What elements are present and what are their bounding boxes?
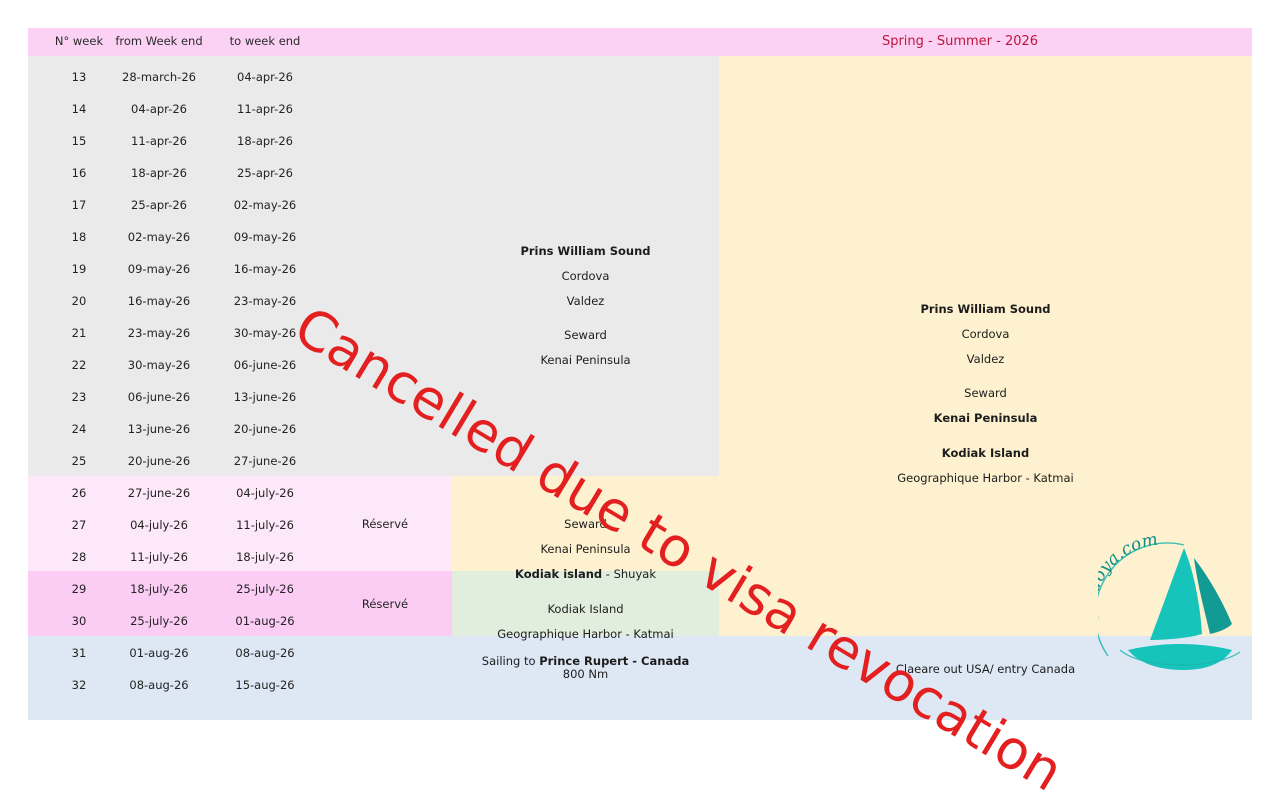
cell-week-start: 13-june-26: [104, 422, 214, 436]
spacer: [852, 425, 1119, 434]
cell-week-end: 20-june-26: [215, 422, 315, 436]
table-row[interactable]: 1802-may-2609-may-26: [28, 220, 452, 252]
table-row[interactable]: 2811-july-2618-july-26: [28, 540, 452, 572]
cell-week-end: 01-aug-26: [215, 614, 315, 628]
clearance-note: Claeare out USA/ entry Canada: [852, 662, 1119, 676]
cell-week-start: 25-apr-26: [104, 198, 214, 212]
cell-week-end: 13-june-26: [215, 390, 315, 404]
destination-green-block: Kodiak Island Geographique Harbor - Katm…: [452, 590, 719, 640]
cell-week-start: 01-aug-26: [104, 646, 214, 660]
sailing-destination: Prince Rupert - Canada: [539, 654, 689, 668]
dest-cream-line3-rest: - Shuyak: [602, 567, 656, 581]
dest-right-line1: Prins William Sound: [920, 302, 1050, 316]
dest-green-line2: Geographique Harbor - Katmai: [497, 627, 674, 641]
cell-week-start: 20-june-26: [104, 454, 214, 468]
cell-week-end: 09-may-26: [215, 230, 315, 244]
cell-week-start: 18-apr-26: [104, 166, 214, 180]
dest-right-line2: Cordova: [962, 327, 1010, 341]
table-row[interactable]: 2230-may-2606-june-26: [28, 348, 452, 380]
cell-week-end: 18-july-26: [215, 550, 315, 564]
reserved-label-1: Réservé: [330, 517, 440, 531]
cell-week-start: 09-may-26: [104, 262, 214, 276]
cell-week-end: 04-july-26: [215, 486, 315, 500]
cell-week-end: 25-july-26: [215, 582, 315, 596]
cell-week-start: 02-may-26: [104, 230, 214, 244]
sailing-prefix: Sailing to: [482, 654, 539, 668]
cell-week-end: 02-may-26: [215, 198, 315, 212]
front-sail-icon: [1150, 548, 1202, 640]
dest-grey-line1: Prins William Sound: [520, 244, 650, 258]
dest-grey-line3: Valdez: [567, 294, 605, 308]
reserved-label-2: Réservé: [330, 597, 440, 611]
table-row[interactable]: 2627-june-2604-july-26: [28, 476, 452, 508]
cell-week-end: 25-apr-26: [215, 166, 315, 180]
table-row[interactable]: 2016-may-2623-may-26: [28, 284, 452, 316]
cell-week-end: 11-july-26: [215, 518, 315, 532]
cell-week-end: 11-apr-26: [215, 102, 315, 116]
cell-week-end: 23-may-26: [215, 294, 315, 308]
cell-week-start: 23-may-26: [104, 326, 214, 340]
cell-week-start: 30-may-26: [104, 358, 214, 372]
table-row[interactable]: 3208-aug-2615-aug-26: [28, 668, 452, 700]
sailing-distance: 800 Nm: [563, 667, 608, 681]
cell-week-end: 15-aug-26: [215, 678, 315, 692]
table-row[interactable]: 3101-aug-2608-aug-26: [28, 636, 452, 668]
dest-right-line6: Kodiak Island: [942, 446, 1029, 460]
dest-cream-line3-bold: Kodiak island: [515, 567, 602, 581]
table-row[interactable]: 2306-june-2613-june-26: [28, 380, 452, 412]
schedule-sheet: N° week from Week end to week end Spring…: [0, 0, 1280, 720]
dest-cream-line2: Kenai Peninsula: [540, 542, 630, 556]
destination-cream-block: Seward Kenai Peninsula Kodiak island - S…: [452, 505, 719, 581]
cell-week-end: 04-apr-26: [215, 70, 315, 84]
spacer: [452, 308, 719, 317]
column-header-from: from Week end: [104, 34, 214, 48]
dest-right-line5: Kenai Peninsula: [934, 411, 1038, 425]
cell-week-start: 28-march-26: [104, 70, 214, 84]
dest-green-line1: Kodiak Island: [547, 602, 623, 616]
dest-grey-line5: Kenai Peninsula: [540, 353, 630, 367]
dest-grey-line2: Cordova: [562, 269, 610, 283]
cell-week-start: 27-june-26: [104, 486, 214, 500]
cell-week-end: 30-may-26: [215, 326, 315, 340]
logo-brand-text: fredoya.com: [1098, 530, 1159, 620]
destination-right-block: Prins William Sound Cordova Valdez Sewar…: [852, 290, 1119, 484]
cell-week-end: 08-aug-26: [215, 646, 315, 660]
cell-week-end: 16-may-26: [215, 262, 315, 276]
table-row[interactable]: 2413-june-2620-june-26: [28, 412, 452, 444]
dest-right-line7: Geographique Harbor - Katmai: [897, 471, 1074, 485]
cell-week-end: 18-apr-26: [215, 134, 315, 148]
table-row[interactable]: 1511-apr-2618-apr-26: [28, 124, 452, 156]
table-row[interactable]: 1328-march-2604-apr-26: [28, 60, 452, 92]
table-row[interactable]: 1725-apr-2602-may-26: [28, 188, 452, 220]
destination-grey-block: Prins William Sound Cordova Valdez Sewar…: [452, 232, 719, 367]
cell-week-start: 06-june-26: [104, 390, 214, 404]
cell-week-start: 11-july-26: [104, 550, 214, 564]
table-row[interactable]: 1909-may-2616-may-26: [28, 252, 452, 284]
cell-week-start: 04-july-26: [104, 518, 214, 532]
cell-week-end: 27-june-26: [215, 454, 315, 468]
season-title: Spring - Summer - 2026: [800, 34, 1120, 49]
dest-grey-line4: Seward: [564, 328, 607, 342]
spacer: [852, 366, 1119, 375]
column-header-to: to week end: [215, 34, 315, 48]
fredoya-logo[interactable]: fredoya.com: [1098, 528, 1258, 693]
dest-right-line3: Valdez: [967, 352, 1005, 366]
table-row[interactable]: 1404-apr-2611-apr-26: [28, 92, 452, 124]
dest-cream-line1: Seward: [564, 517, 607, 531]
table-row[interactable]: 1618-apr-2625-apr-26: [28, 156, 452, 188]
cell-week-end: 06-june-26: [215, 358, 315, 372]
table-row[interactable]: 2123-may-2630-may-26: [28, 316, 452, 348]
cell-week-start: 18-july-26: [104, 582, 214, 596]
cell-week-start: 16-may-26: [104, 294, 214, 308]
cell-week-start: 04-apr-26: [104, 102, 214, 116]
sailing-info: Sailing to Prince Rupert - Canada 800 Nm: [452, 655, 719, 680]
dest-right-line4: Seward: [964, 386, 1007, 400]
cell-week-start: 11-apr-26: [104, 134, 214, 148]
cell-week-start: 25-july-26: [104, 614, 214, 628]
cell-week-start: 08-aug-26: [104, 678, 214, 692]
hull-icon: [1128, 644, 1232, 670]
table-row[interactable]: 2520-june-2627-june-26: [28, 444, 452, 476]
